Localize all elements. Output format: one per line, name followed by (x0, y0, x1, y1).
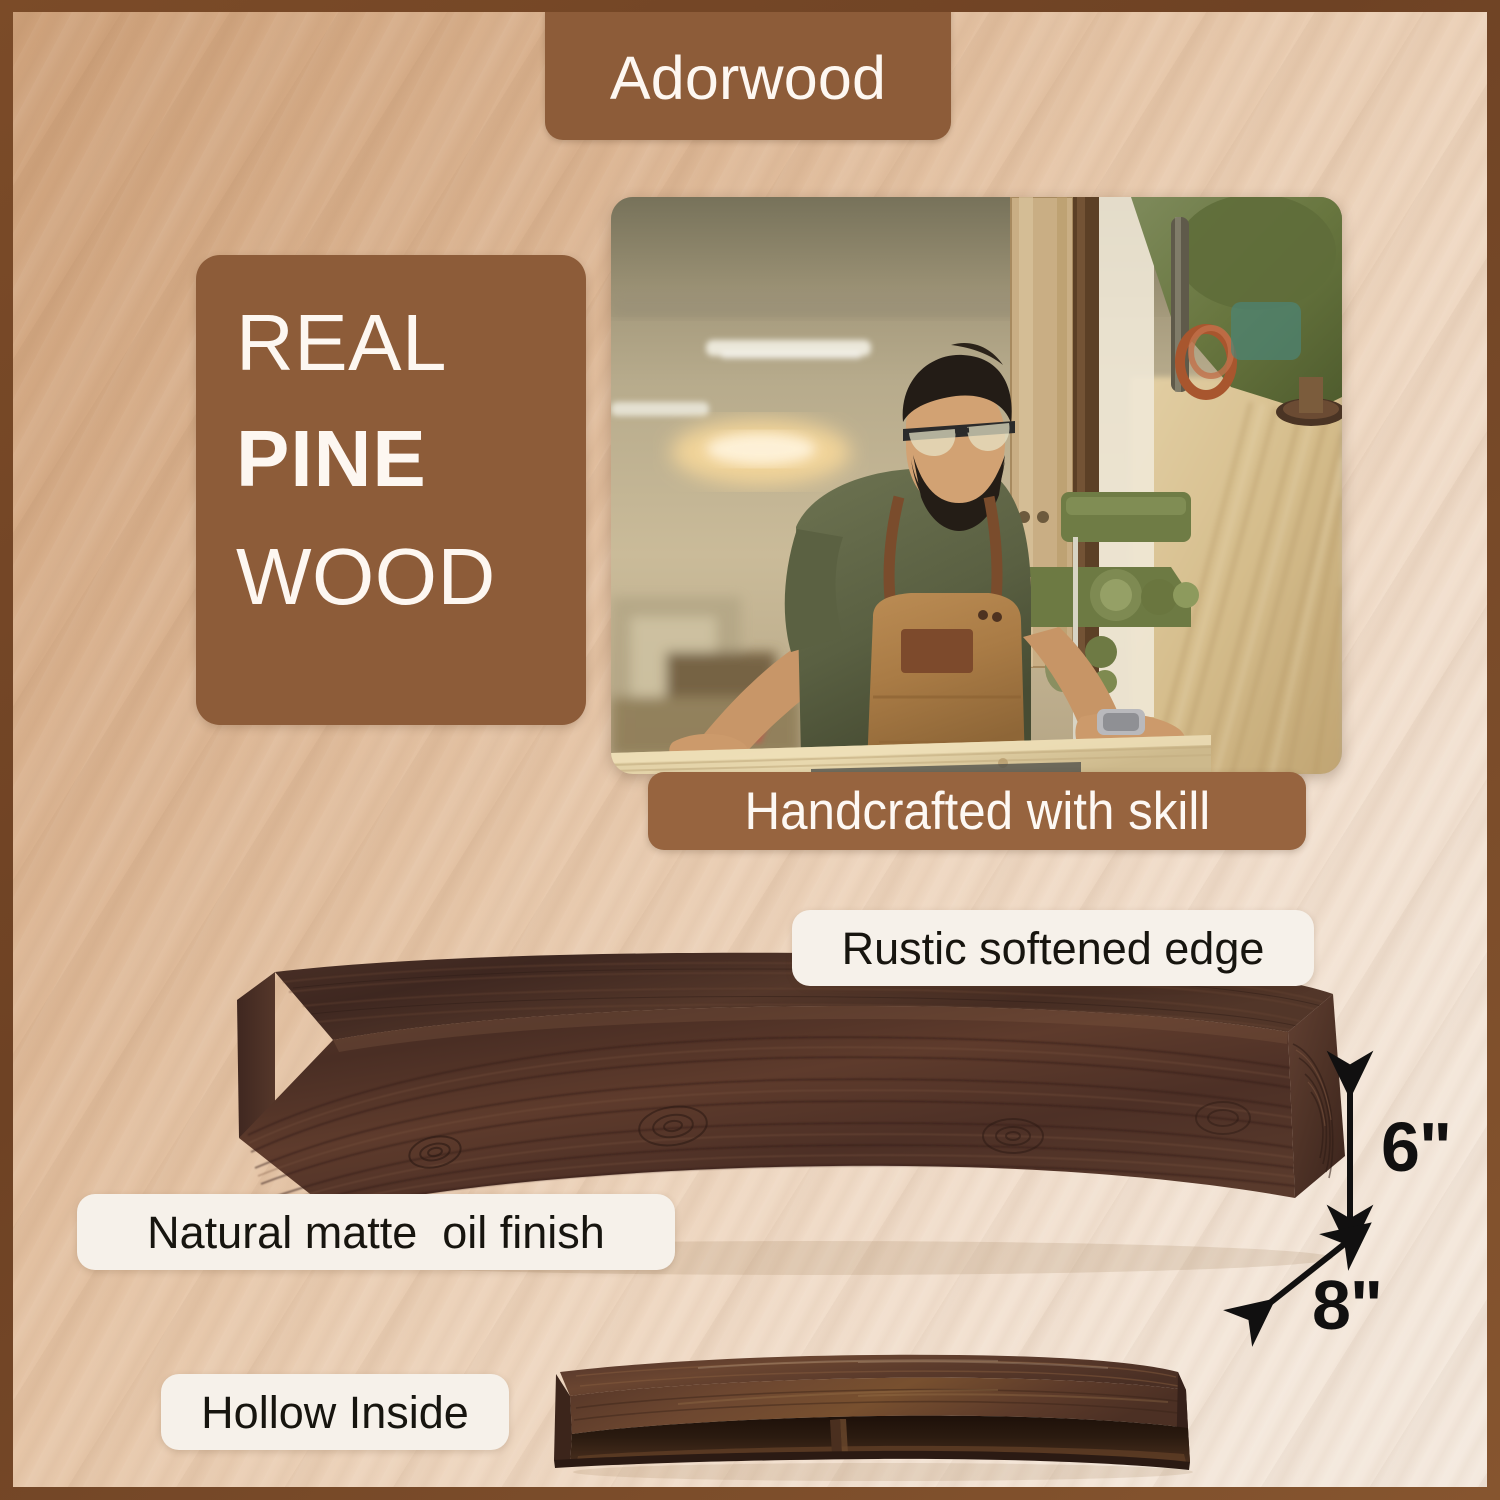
feature-pill-hollow-inside: Hollow Inside (161, 1374, 509, 1450)
feature-label-matte-finish: Natural matte oil finish (147, 1210, 605, 1255)
photo-caption-banner: Handcrafted with skill (648, 772, 1306, 850)
photo-caption: Handcrafted with skill (744, 785, 1210, 838)
headline-line-wood: WOOD (236, 525, 586, 629)
headline-line-pine: PINE (236, 407, 586, 511)
infographic-panel: Adorwood REAL PINE WOOD (13, 12, 1487, 1487)
brand-banner: Adorwood (545, 12, 951, 140)
dimension-depth-label: 8" (1312, 1270, 1382, 1340)
outer-wood-frame: Adorwood REAL PINE WOOD (0, 0, 1500, 1500)
product-beam-hollow (528, 1330, 1238, 1487)
dimension-height-label: 6" (1381, 1112, 1451, 1182)
woodworker-bandsaw-photo (611, 197, 1342, 774)
headline-block: REAL PINE WOOD (196, 255, 586, 725)
feature-label-hollow-inside: Hollow Inside (201, 1390, 469, 1435)
headline-line-real: REAL (236, 291, 586, 395)
brand-name: Adorwood (610, 42, 886, 109)
feature-label-rustic-edge: Rustic softened edge (842, 926, 1265, 971)
feature-pill-matte-finish: Natural matte oil finish (77, 1194, 675, 1270)
feature-pill-rustic-edge: Rustic softened edge (792, 910, 1314, 986)
